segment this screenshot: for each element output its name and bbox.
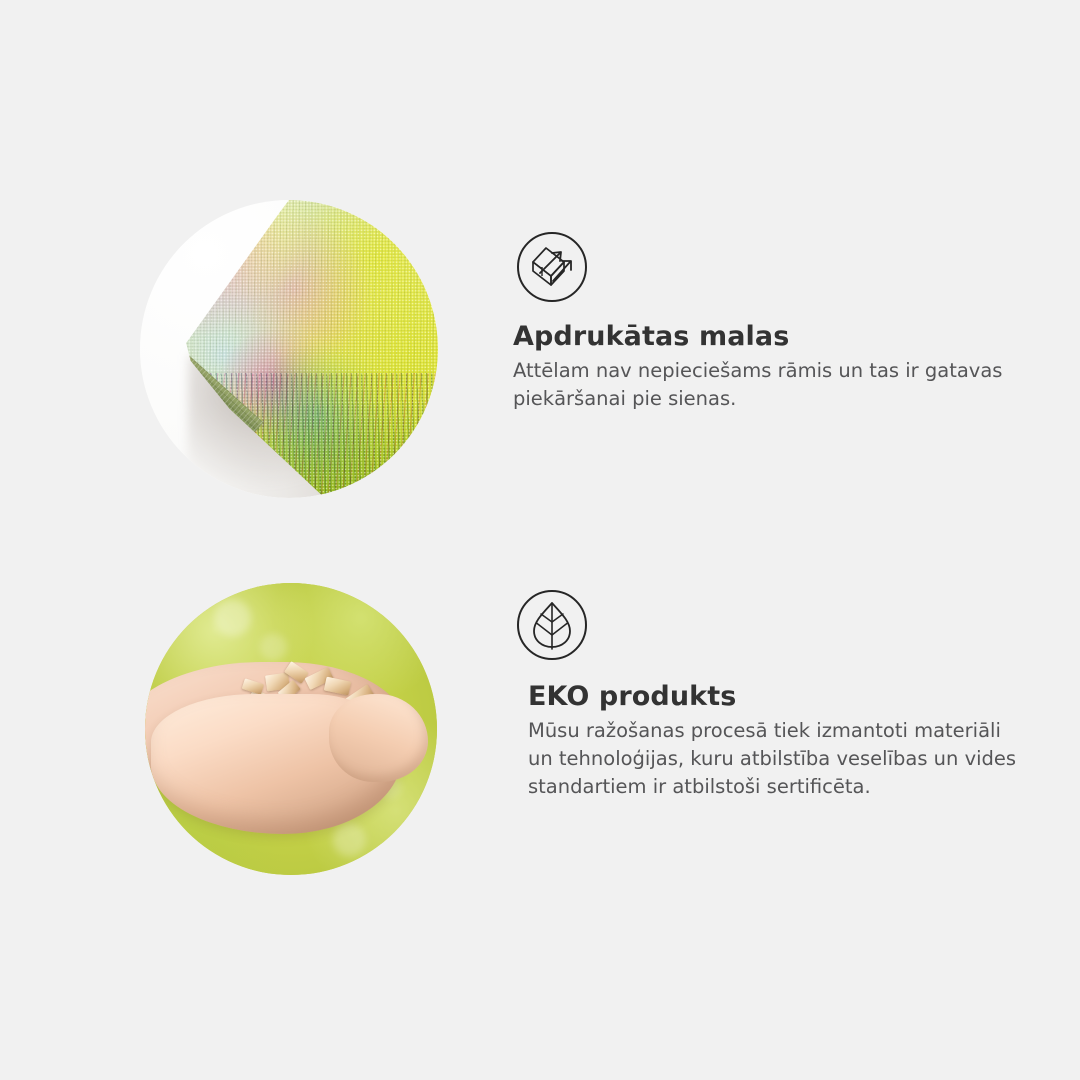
canvas-photo-alt: Tuvplāns audekla stūrim ar apdrukātu mal… <box>140 200 141 201</box>
feature-description-printed-edges: Attēlam nav nepieciešams rāmis un tas ir… <box>513 357 1013 413</box>
printed-edges-icon-glyph <box>516 231 588 303</box>
fingers <box>329 694 428 782</box>
hands-wood-chips-photo: Rokas tur koka šķeldas uz zaļa fona <box>145 583 437 875</box>
printed-edges-icon <box>516 231 588 303</box>
leaf-icon <box>516 589 588 661</box>
feature-text-eko-product: EKO produkts Mūsu ražošanas procesā tiek… <box>528 682 1018 801</box>
feature-title-printed-edges: Apdrukātas malas <box>513 322 1018 352</box>
canvas-corner-photo: Tuvplāns audekla stūrim ar apdrukātu mal… <box>140 200 438 498</box>
feature-description-eko-product: Mūsu ražošanas procesā tiek izmantoti ma… <box>528 717 1018 801</box>
feature-title-eko-product: EKO produkts <box>528 682 1018 712</box>
marketing-feature-panel: Tuvplāns audekla stūrim ar apdrukātu mal… <box>0 0 1080 1080</box>
leaf-icon-glyph <box>516 589 588 661</box>
feature-text-printed-edges: Apdrukātas malas Attēlam nav nepieciešam… <box>513 322 1018 413</box>
